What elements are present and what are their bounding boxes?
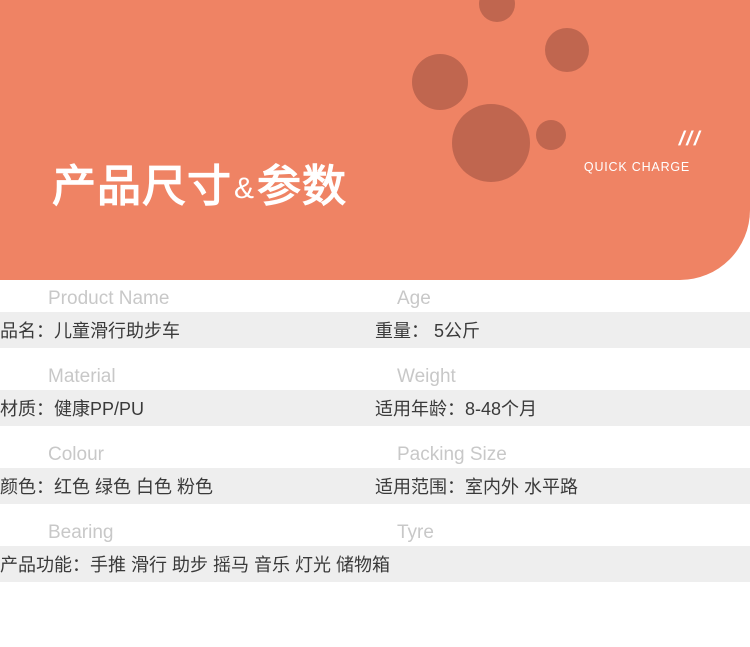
spec-value-product-name: 品名：儿童滑行助步车	[0, 317, 180, 343]
decorative-circle-icon	[452, 104, 530, 182]
page-title-part1: 产品尺寸	[52, 162, 232, 211]
spec-value-age: 重量： 5公斤	[375, 317, 480, 343]
decorative-circle-icon	[536, 120, 566, 150]
page-title: 产品尺寸&参数	[52, 150, 347, 214]
spec-table: Product Name Age 品名：儿童滑行助步车 重量： 5公斤 Mate…	[0, 280, 750, 592]
spec-cell: Bearing	[0, 514, 375, 546]
spec-value-packing-size: 适用范围：室内外 水平路	[375, 473, 578, 499]
spec-value-row: 颜色：红色 绿色 白色 粉色 适用范围：室内外 水平路	[0, 468, 750, 504]
spec-value-band: 品名：儿童滑行助步车	[0, 312, 375, 348]
spec-label-tyre: Tyre	[375, 514, 750, 546]
spec-cell: Product Name	[0, 280, 375, 312]
spec-label-colour: Colour	[0, 436, 375, 468]
spec-value-band: 适用范围：室内外 水平路	[375, 468, 750, 504]
spec-cell: Tyre	[375, 514, 750, 546]
spec-value-band-full: 产品功能：手推 滑行 助步 摇马 音乐 灯光 储物箱	[0, 546, 750, 582]
header-banner: 产品尺寸&参数 /// QUICK CHARGE	[0, 0, 750, 280]
slashes-icon: ///	[677, 128, 705, 151]
spec-label-row: Material Weight	[0, 358, 750, 390]
spec-label-row: Product Name Age	[0, 280, 750, 312]
decorative-circle-icon	[412, 54, 468, 110]
spec-label-row: Bearing Tyre	[0, 514, 750, 546]
spec-label-bearing: Bearing	[0, 514, 375, 546]
spec-cell: Colour	[0, 436, 375, 468]
spec-label-weight: Weight	[375, 358, 750, 390]
spec-value-functions: 产品功能：手推 滑行 助步 摇马 音乐 灯光 储物箱	[0, 551, 390, 577]
spec-value-band: 材质：健康PP/PU	[0, 390, 375, 426]
spec-value-band: 重量： 5公斤	[375, 312, 750, 348]
page-title-part2: 参数	[257, 162, 347, 211]
spec-value-colour: 颜色：红色 绿色 白色 粉色	[0, 473, 213, 499]
spec-label-material: Material	[0, 358, 375, 390]
spec-cell: Age	[375, 280, 750, 312]
spec-label-product-name: Product Name	[0, 280, 375, 312]
product-spec-page: 产品尺寸&参数 /// QUICK CHARGE Product Name Ag…	[0, 0, 750, 647]
spec-value-row: 材质：健康PP/PU 适用年龄：8-48个月	[0, 390, 750, 426]
spec-label-row: Colour Packing Size	[0, 436, 750, 468]
decorative-circle-icon	[545, 28, 589, 72]
spec-value-weight: 适用年龄：8-48个月	[375, 395, 537, 421]
spec-cell: Material	[0, 358, 375, 390]
spec-label-packing-size: Packing Size	[375, 436, 750, 468]
quick-charge-label: QUICK CHARGE	[552, 160, 722, 174]
spec-value-band: 适用年龄：8-48个月	[375, 390, 750, 426]
spec-cell: Weight	[375, 358, 750, 390]
spec-value-band: 颜色：红色 绿色 白色 粉色	[0, 468, 375, 504]
page-title-ampersand: &	[232, 172, 257, 205]
spec-value-material: 材质：健康PP/PU	[0, 395, 144, 421]
spec-label-age: Age	[375, 280, 750, 312]
spec-value-row: 品名：儿童滑行助步车 重量： 5公斤	[0, 312, 750, 348]
spec-cell: Packing Size	[375, 436, 750, 468]
decorative-circle-icon	[479, 0, 515, 22]
